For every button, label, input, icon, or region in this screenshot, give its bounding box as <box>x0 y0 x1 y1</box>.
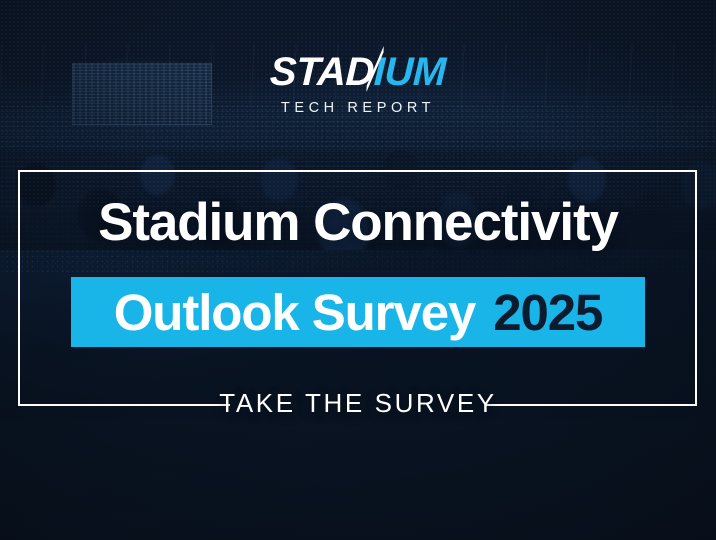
headline-line-2: Outlook Survey 2025 <box>71 277 645 347</box>
logo-wordmark: STADIUM <box>269 52 446 92</box>
take-the-survey-cta[interactable]: TAKE THE SURVEY <box>0 388 716 419</box>
brand-logo: STADIUM TECH REPORT <box>0 52 716 116</box>
hero-headline: Stadium Connectivity <box>0 196 716 250</box>
logo-tagline: TECH REPORT <box>281 100 435 116</box>
logo-letter-d-split: D <box>345 52 375 92</box>
logo-text-blue: IUM <box>373 52 446 92</box>
headline-line-2-words: Outlook Survey <box>114 287 476 338</box>
cta-label: TAKE THE SURVEY <box>219 388 496 418</box>
logo-text-white: STA <box>269 52 346 92</box>
headline-line-1: Stadium Connectivity <box>0 196 716 250</box>
promo-banner: STADIUM TECH REPORT Stadium Connectivity… <box>0 0 716 540</box>
headline-year: 2025 <box>493 287 602 338</box>
